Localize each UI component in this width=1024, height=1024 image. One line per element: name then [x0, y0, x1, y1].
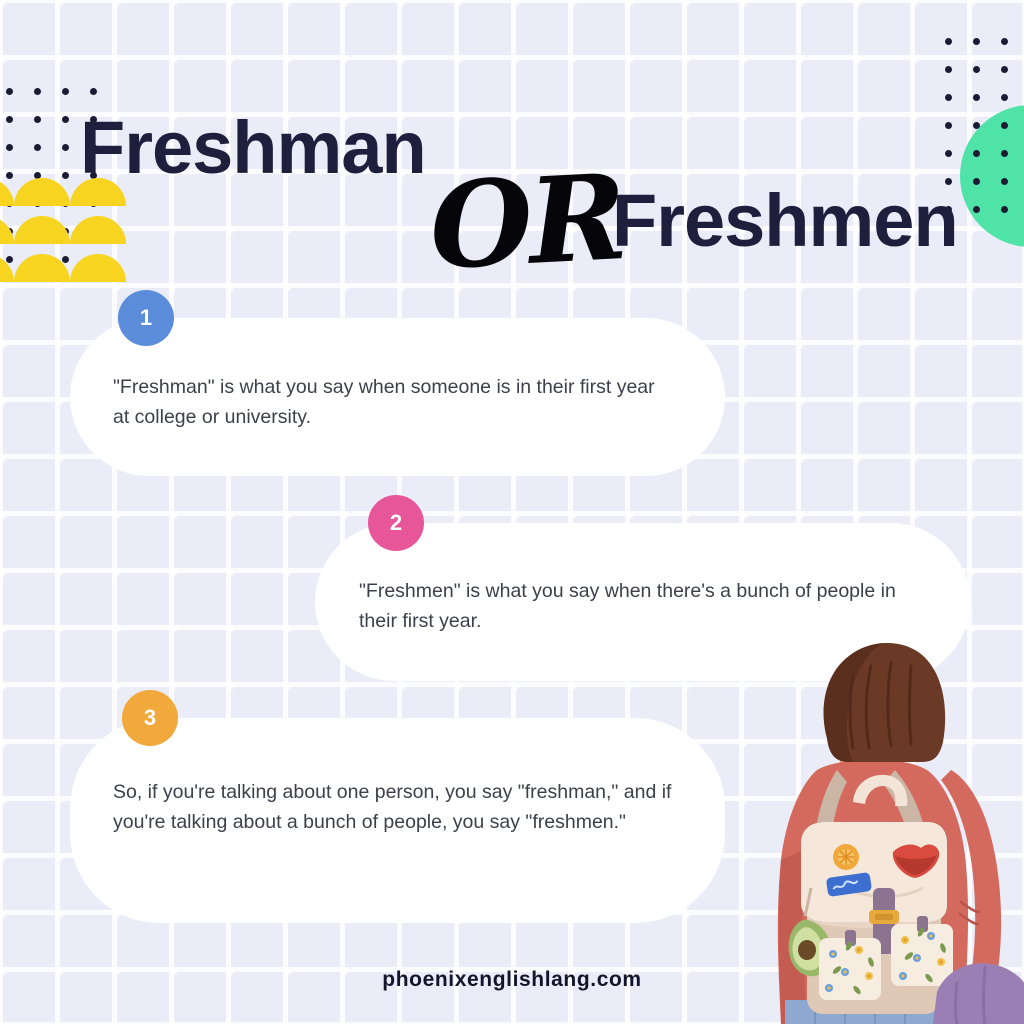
page-title: Freshman OR Freshmen: [0, 0, 1024, 300]
student-with-backpack-illustration: [745, 620, 1024, 1024]
footer-website[interactable]: phoenixenglishlang.com: [0, 968, 1024, 992]
title-word-freshman: Freshman: [80, 105, 426, 190]
title-word-freshmen: Freshmen: [612, 178, 958, 263]
info-card-1-number-badge: 1: [118, 290, 174, 346]
info-card-2-number-badge: 2: [368, 495, 424, 551]
info-card-3-number-badge: 3: [122, 690, 178, 746]
info-card-3-text: So, if you're talking about one person, …: [113, 777, 673, 837]
title-connector-or: OR: [426, 147, 626, 296]
info-card-1-text: "Freshman" is what you say when someone …: [113, 372, 673, 432]
infographic-canvas: Freshman OR Freshmen "Freshman" is what …: [0, 0, 1024, 1024]
